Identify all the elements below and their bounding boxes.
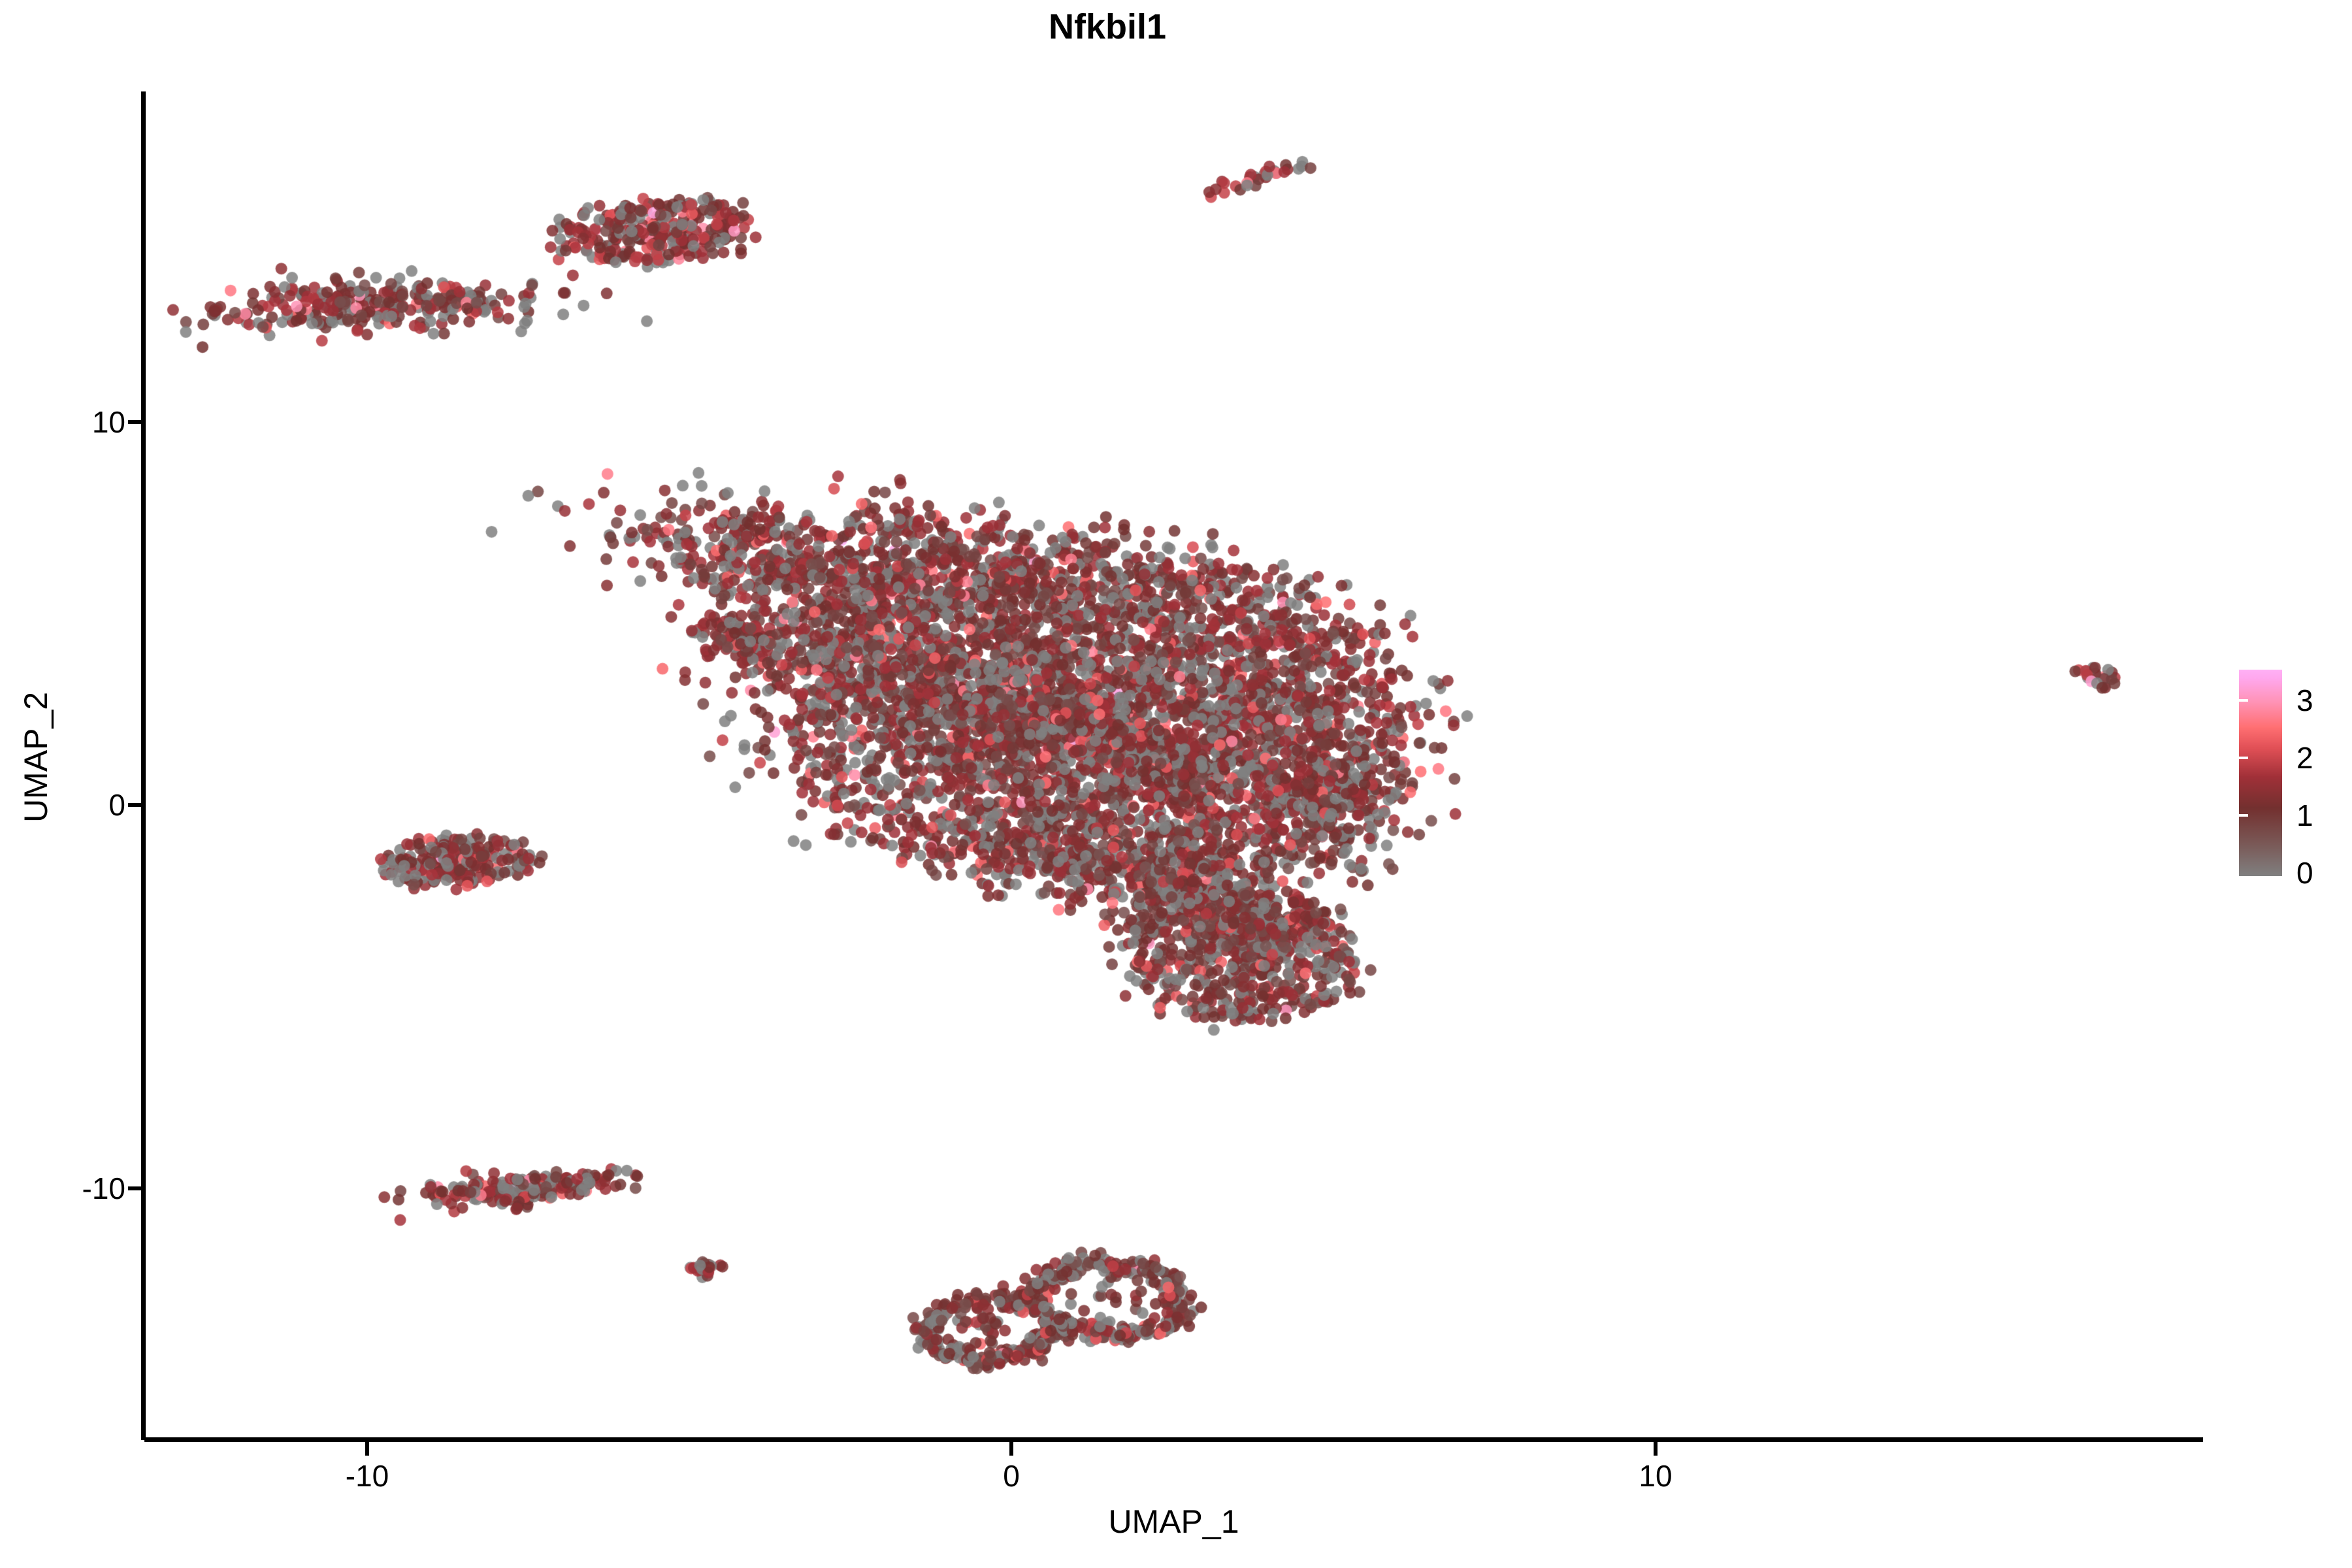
colorbar-tick-label: 1 (2296, 798, 2313, 833)
page-title: Nfkbil1 (0, 7, 2215, 47)
colorbar-tick-mark (2239, 699, 2248, 702)
y-axis-line (141, 91, 146, 1440)
umap-feature-plot: Nfkbil1 -10010 -10010 UMAP_1 UMAP_2 0123 (0, 0, 2352, 1568)
scatter-points-layer (144, 91, 2203, 1440)
colorbar-tick-label: 3 (2296, 683, 2313, 718)
colorbar-tick-label: 0 (2296, 855, 2313, 890)
y-tick-mark (128, 803, 142, 807)
x-axis-line (144, 1437, 2203, 1442)
x-tick-mark (365, 1442, 369, 1456)
colorbar-tick-mark (2334, 699, 2344, 702)
colorbar-tick-mark (2334, 814, 2344, 817)
colorbar-tick-mark (2239, 757, 2248, 759)
x-tick-label: 10 (1639, 1458, 1672, 1494)
y-tick-label: 10 (92, 404, 125, 440)
colorbar-tick-label: 2 (2296, 740, 2313, 776)
y-tick-mark (128, 420, 142, 424)
x-tick-label: -10 (346, 1458, 389, 1494)
plot-panel (144, 91, 2203, 1440)
x-tick-label: 0 (1003, 1458, 1020, 1494)
y-tick-label: 0 (108, 787, 125, 823)
x-tick-mark (1654, 1442, 1658, 1456)
y-tick-mark (128, 1186, 142, 1190)
x-axis-title: UMAP_1 (144, 1503, 2203, 1541)
y-axis-title: UMAP_2 (17, 561, 55, 953)
colorbar-legend: 0123 (2239, 670, 2344, 879)
y-tick-label: -10 (82, 1171, 125, 1206)
x-tick-mark (1009, 1442, 1013, 1456)
colorbar-tick-mark (2239, 814, 2248, 817)
colorbar-tick-mark (2334, 757, 2344, 759)
